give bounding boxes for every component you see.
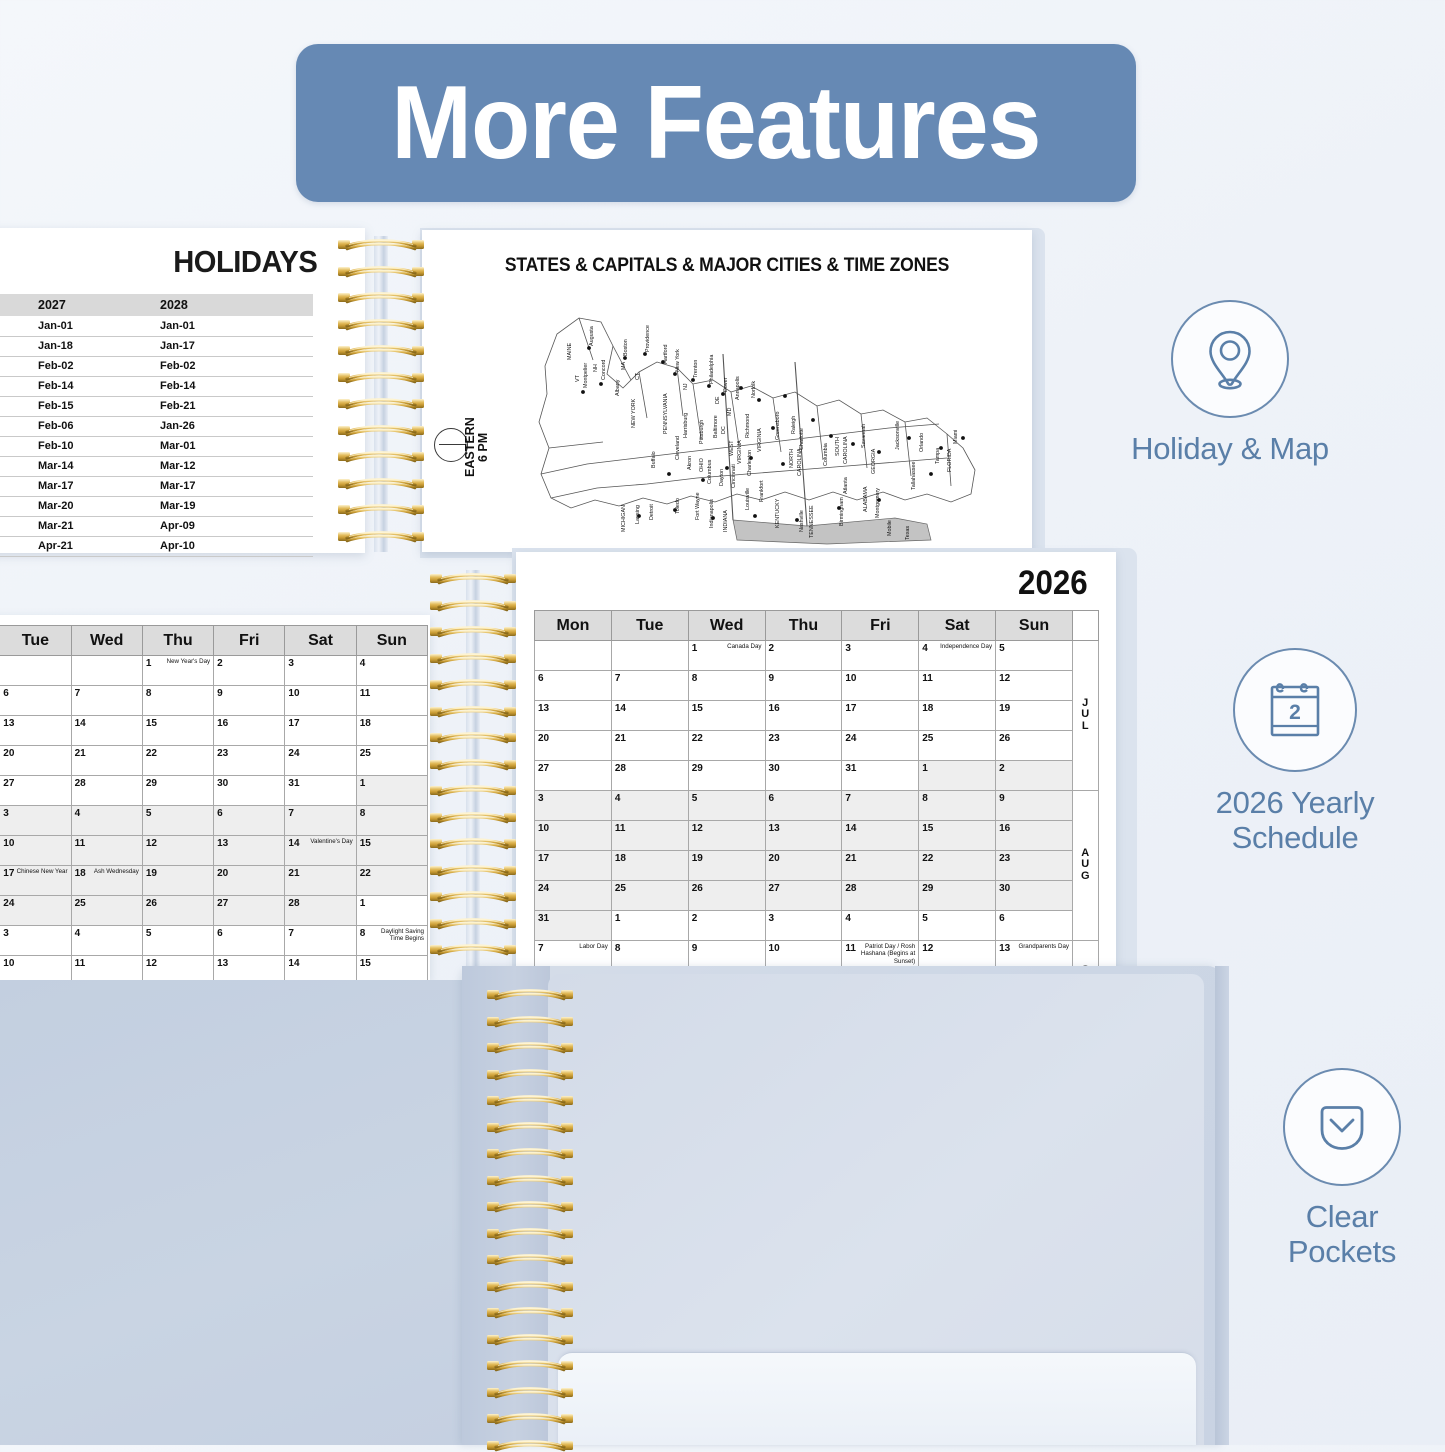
calendar-day-cell[interactable]: 10: [842, 671, 919, 701]
svg-text:Trenton: Trenton: [693, 360, 699, 378]
holidays-cell: Apr-10: [146, 536, 313, 556]
calendar-day-number: 25: [75, 898, 86, 909]
calendar-day-cell[interactable]: 28: [71, 776, 142, 806]
calendar-day-number: 17: [845, 703, 856, 714]
calendar-day-number: 25: [615, 883, 626, 894]
calendar-day-number: 19: [999, 703, 1010, 714]
calendar-day-cell[interactable]: 4Independence Day: [919, 641, 996, 671]
calendar-week-row: 6789101112: [535, 671, 1099, 701]
calendar-day-cell[interactable]: 18: [611, 851, 688, 881]
calendar-day-cell[interactable]: 17Chinese New Year: [0, 866, 71, 896]
calendar-day-cell[interactable]: 29: [142, 776, 213, 806]
svg-text:MICHIGAN: MICHIGAN: [621, 505, 627, 532]
svg-text:KENTUCKY: KENTUCKY: [775, 498, 781, 528]
calendar-day-number: 21: [615, 733, 626, 744]
banner-title: More Features: [391, 71, 1040, 175]
holidays-header-row: 2026 2027 2028: [0, 294, 313, 316]
calendar-day-number: 27: [217, 898, 228, 909]
svg-text:GEORGIA: GEORGIA: [871, 448, 877, 474]
calendar-day-cell[interactable]: 31: [535, 911, 612, 941]
holidays-cell: Mar-17: [146, 476, 313, 496]
calendar-week-row: 2324252627281: [0, 896, 428, 926]
holidays-cell: Feb-21: [146, 396, 313, 416]
calendar-day-cell[interactable]: 27: [535, 761, 612, 791]
calendar-day-number: 18: [615, 853, 626, 864]
calendar-day-number: 1: [615, 913, 621, 924]
calendar-day-cell[interactable]: [0, 656, 71, 686]
calendar-day-number: 22: [692, 733, 703, 744]
calendar-day-cell[interactable]: 1: [611, 911, 688, 941]
calendar-day-cell[interactable]: 9: [996, 791, 1073, 821]
calendar-day-number: 15: [146, 718, 157, 729]
holidays-cell: Mar-12: [146, 456, 313, 476]
calendar-day-cell[interactable]: 27: [0, 776, 71, 806]
binding-coil: [487, 1200, 573, 1213]
calendar-day-cell[interactable]: 20: [0, 746, 71, 776]
svg-text:Cleveland: Cleveland: [675, 436, 681, 460]
binding-coil: [487, 1227, 573, 1240]
calendar-icon: 2: [1256, 671, 1334, 749]
calendar-week-row: 1617Chinese New Year18Ash Wednesday19202…: [0, 866, 428, 896]
svg-text:WEST: WEST: [729, 440, 735, 456]
calendar-week-row: 3456789AUG: [535, 791, 1099, 821]
calendar-day-cell[interactable]: 14: [842, 821, 919, 851]
binding-coil: [487, 1412, 573, 1425]
svg-text:TENNESSEE: TENNESSEE: [809, 505, 815, 538]
svg-text:Tallahassee: Tallahassee: [911, 462, 917, 490]
calendar-day-cell[interactable]: 4: [356, 656, 427, 686]
binding-coil: [487, 1359, 573, 1372]
calendar-weekday-header: Tue: [611, 611, 688, 641]
calendar-weekday-header: Thu: [142, 626, 213, 656]
calendar-day-cell[interactable]: 21: [842, 851, 919, 881]
calendar-day-cell[interactable]: 17: [535, 851, 612, 881]
calendar-day-cell[interactable]: 15: [688, 701, 765, 731]
calendar-day-cell[interactable]: 8Daylight Saving Time Begins: [356, 926, 427, 956]
calendar-day-cell[interactable]: 3: [842, 641, 919, 671]
calendar-day-cell[interactable]: 8: [919, 791, 996, 821]
calendar-day-number: 23: [217, 748, 228, 759]
calendar-day-cell[interactable]: 13: [535, 701, 612, 731]
binding-coil: [430, 811, 516, 824]
feature-3-label-line-2: Pockets: [1288, 1235, 1396, 1270]
calendar-day-cell[interactable]: 11: [611, 821, 688, 851]
calendar-day-cell[interactable]: 25: [611, 881, 688, 911]
calendar-day-cell[interactable]: 30: [996, 881, 1073, 911]
calendar-week-row: 2345678: [0, 806, 428, 836]
calendar-day-number: 31: [288, 778, 299, 789]
calendar-holiday-note: Canada Day: [727, 643, 761, 650]
calendar-day-number: 14: [288, 958, 299, 969]
calendar-day-cell[interactable]: 22: [142, 746, 213, 776]
calendar-day-cell[interactable]: 15: [142, 716, 213, 746]
calendar-day-cell[interactable]: 3: [535, 791, 612, 821]
calendar-day-cell[interactable]: 2: [688, 911, 765, 941]
calendar-day-cell[interactable]: 30: [765, 761, 842, 791]
calendar-day-cell[interactable]: 1: [919, 761, 996, 791]
calendar-day-cell[interactable]: 11: [356, 686, 427, 716]
calendar-day-number: 2: [217, 658, 223, 669]
calendar-day-number: 30: [769, 763, 780, 774]
calendar-weekday-header: Tue: [0, 626, 71, 656]
calendar-day-cell[interactable]: 28: [285, 896, 356, 926]
holidays-table: 2026 2027 2028 Jan-01Jan-01Jan-01Jan-19J…: [0, 294, 313, 557]
holidays-cell: Mar-20: [0, 496, 24, 516]
calendar-day-number: 13: [217, 958, 228, 969]
calendar-day-number: 30: [999, 883, 1010, 894]
calendar-weekday-header: Thu: [765, 611, 842, 641]
calendar-day-cell[interactable]: 17: [842, 701, 919, 731]
calendar-day-cell[interactable]: 3: [765, 911, 842, 941]
calendar-week-row: 19202122232425: [0, 746, 428, 776]
calendar-holiday-note: Valentine's Day: [310, 838, 352, 845]
calendar-day-cell[interactable]: 14Valentine's Day: [285, 836, 356, 866]
svg-text:Toledo: Toledo: [675, 498, 681, 514]
svg-text:MA: MA: [621, 362, 627, 370]
holidays-row: Feb-14Feb-14Feb-14: [0, 376, 313, 396]
svg-text:DC: DC: [721, 426, 727, 434]
calendar-week-row: 91011121314Valentine's Day15: [0, 836, 428, 866]
svg-text:Greensboro: Greensboro: [775, 412, 781, 440]
calendar-day-cell[interactable]: 29: [919, 881, 996, 911]
calendar-day-number: 19: [692, 853, 703, 864]
calendar-day-cell[interactable]: 5: [142, 926, 213, 956]
svg-text:Raleigh: Raleigh: [791, 416, 797, 434]
holidays-cell: Feb-02: [146, 356, 313, 376]
calendar-day-number: 5: [146, 928, 152, 939]
calendar-day-cell[interactable]: 22: [919, 851, 996, 881]
holidays-cell: Jan-17: [146, 336, 313, 356]
calendar-day-cell[interactable]: 7: [285, 806, 356, 836]
calendar-day-cell[interactable]: 21: [611, 731, 688, 761]
calendar-day-cell[interactable]: 8: [688, 671, 765, 701]
calendar-day-cell[interactable]: 29: [688, 761, 765, 791]
calendar-right-body: 1Canada Day234Independence Day5JUL678910…: [535, 641, 1099, 981]
calendar-day-number: 4: [75, 928, 81, 939]
binding-coil: [430, 678, 516, 691]
calendar-day-cell[interactable]: 5: [142, 806, 213, 836]
calendar-day-cell[interactable]: 22: [688, 731, 765, 761]
svg-text:Baltimore: Baltimore: [713, 415, 719, 438]
calendar-day-number: 23: [999, 853, 1010, 864]
svg-text:ALABAMA: ALABAMA: [863, 486, 869, 512]
calendar-left-weekday-row: MonTueWedThuFriSatSun: [0, 626, 428, 656]
holidays-row: Feb-18Feb-10Mar-01: [0, 436, 313, 456]
calendar-holiday-note: Daylight Saving Time Begins: [372, 928, 424, 943]
calendar-day-cell[interactable]: 11: [919, 671, 996, 701]
calendar-day-cell[interactable]: 1: [356, 896, 427, 926]
calendar-holiday-note: New Year's Day: [167, 658, 210, 665]
feature-holiday-map: Holiday & Map: [1110, 300, 1350, 467]
calendar-day-cell[interactable]: 1New Year's Day: [142, 656, 213, 686]
calendar-day-cell[interactable]: 28: [611, 761, 688, 791]
calendar-day-cell[interactable]: 6: [214, 806, 285, 836]
holidays-cell: Feb-16: [0, 396, 24, 416]
holidays-col-2028: 2028: [146, 294, 313, 316]
calendar-day-number: 11: [922, 673, 933, 684]
calendar-day-number: 28: [615, 763, 626, 774]
us-map-svg: MAINE Augusta Boston Providence Hartford…: [527, 288, 997, 550]
calendar-day-cell[interactable]: 24: [0, 896, 71, 926]
calendar-day-cell[interactable]: 3: [0, 926, 71, 956]
calendar-day-cell[interactable]: 16: [996, 821, 1073, 851]
calendar-day-cell[interactable]: 9: [765, 671, 842, 701]
calendar-day-cell[interactable]: 6: [0, 686, 71, 716]
calendar-day-cell[interactable]: 20: [214, 866, 285, 896]
calendar-day-cell[interactable]: 18Ash Wednesday: [71, 866, 142, 896]
calendar-day-number: 15: [360, 958, 371, 969]
calendar-day-cell[interactable]: 20: [765, 851, 842, 881]
calendar-day-cell[interactable]: 2: [765, 641, 842, 671]
holidays-cell: Feb-14: [146, 376, 313, 396]
calendar-right-table: MonTueWedThuFriSatSun 1Canada Day234Inde…: [534, 610, 1099, 980]
svg-text:CT: CT: [635, 372, 641, 380]
binding-coil: [338, 344, 424, 357]
binding-coil: [338, 371, 424, 384]
calendar-day-cell[interactable]: 26: [996, 731, 1073, 761]
calendar-day-cell[interactable]: 6: [996, 911, 1073, 941]
calendar-day-number: 2: [692, 913, 698, 924]
calendar-week-row: 13141516171819: [535, 701, 1099, 731]
calendar-week-row: 1Canada Day234Independence Day5JUL: [535, 641, 1099, 671]
calendar-day-number: 20: [3, 748, 14, 759]
calendar-day-cell[interactable]: 4: [842, 911, 919, 941]
svg-text:New York: New York: [675, 349, 681, 372]
calendar-day-cell[interactable]: 21: [71, 746, 142, 776]
calendar-day-cell[interactable]: 27: [214, 896, 285, 926]
calendar-day-cell[interactable]: 10: [285, 686, 356, 716]
calendar-day-number: 10: [3, 958, 14, 969]
holidays-cell: Feb-14: [0, 376, 24, 396]
calendar-day-cell[interactable]: 5: [996, 641, 1073, 671]
calendar-day-cell[interactable]: [535, 641, 612, 671]
calendar-day-cell[interactable]: 23: [996, 851, 1073, 881]
calendar-day-cell[interactable]: 4: [71, 926, 142, 956]
holidays-cell: Apr-21: [24, 536, 146, 556]
binding-coil: [430, 599, 516, 612]
calendar-day-cell[interactable]: 30: [214, 776, 285, 806]
map-page: STATES & CAPITALS & MAJOR CITIES & TIME …: [422, 230, 1032, 552]
calendar-day-number: 2: [999, 763, 1005, 774]
svg-text:INDIANA: INDIANA: [723, 510, 729, 532]
calendar-day-cell[interactable]: [71, 656, 142, 686]
svg-text:Birmingham: Birmingham: [839, 497, 845, 526]
calendar-day-cell[interactable]: 7: [71, 686, 142, 716]
calendar-day-cell[interactable]: 13: [765, 821, 842, 851]
calendar-day-cell[interactable]: 26: [688, 881, 765, 911]
holidays-cell: Jan-01: [0, 316, 24, 336]
calendar-day-cell[interactable]: 19: [996, 701, 1073, 731]
map-title: STATES & CAPITALS & MAJOR CITIES & TIME …: [453, 254, 1002, 277]
binding-coil: [338, 450, 424, 463]
calendar-day-number: 17: [538, 853, 549, 864]
calendar-week-row: 272829303112: [535, 761, 1099, 791]
calendar-day-cell[interactable]: 8: [356, 806, 427, 836]
calendar-day-cell[interactable]: 24: [285, 746, 356, 776]
binding-coil: [430, 943, 516, 956]
calendar-day-cell[interactable]: 13: [0, 716, 71, 746]
svg-text:Dayton: Dayton: [719, 469, 725, 486]
calendar-weekday-header: Fri: [214, 626, 285, 656]
calendar-day-cell[interactable]: [611, 641, 688, 671]
svg-text:Boston: Boston: [623, 339, 629, 356]
calendar-day-cell[interactable]: 31: [285, 776, 356, 806]
calendar-day-cell[interactable]: 10: [0, 836, 71, 866]
calendar-day-cell[interactable]: 25: [71, 896, 142, 926]
svg-text:OHIO: OHIO: [699, 458, 705, 472]
binding-coil: [430, 705, 516, 718]
holidays-row: Mar-20Mar-20Mar-19: [0, 496, 313, 516]
calendar-day-cell[interactable]: 16: [214, 716, 285, 746]
calendar-day-number: 10: [769, 943, 780, 954]
calendar-day-cell[interactable]: 23: [214, 746, 285, 776]
calendar-week-row: 1New Year's Day234: [0, 656, 428, 686]
calendar-weekday-header: Sun: [996, 611, 1073, 641]
calendar-day-number: 10: [538, 823, 549, 834]
calendar-day-cell[interactable]: 6: [214, 926, 285, 956]
calendar-day-cell[interactable]: 15: [919, 821, 996, 851]
calendar-day-cell[interactable]: 5: [688, 791, 765, 821]
calendar-day-cell[interactable]: 12: [142, 836, 213, 866]
calendar-day-cell[interactable]: 15: [356, 836, 427, 866]
calendar-day-cell[interactable]: 12: [688, 821, 765, 851]
calendar-day-number: 27: [769, 883, 780, 894]
binding-coil: [487, 1174, 573, 1187]
calendar-day-cell[interactable]: 19: [688, 851, 765, 881]
calendar-day-cell[interactable]: 7: [842, 791, 919, 821]
feature-holiday-map-label: Holiday & Map: [1131, 432, 1329, 467]
calendar-day-cell[interactable]: 11: [71, 836, 142, 866]
calendar-day-cell[interactable]: 1Canada Day: [688, 641, 765, 671]
calendar-day-cell[interactable]: 6: [535, 671, 612, 701]
calendar-day-cell[interactable]: 31: [842, 761, 919, 791]
calendar-day-cell[interactable]: 1: [356, 776, 427, 806]
calendar-day-cell[interactable]: 18: [919, 701, 996, 731]
calendar-day-cell[interactable]: 21: [285, 866, 356, 896]
calendar-day-number: 1: [692, 643, 698, 654]
svg-text:Buffalo: Buffalo: [651, 451, 657, 468]
calendar-day-number: 7: [615, 673, 621, 684]
binding-coil: [487, 1439, 573, 1452]
calendar-day-cell[interactable]: 28: [842, 881, 919, 911]
calendar-day-number: 17: [3, 868, 14, 879]
svg-text:Atlanta: Atlanta: [843, 477, 849, 494]
calendar-day-cell[interactable]: 26: [142, 896, 213, 926]
calendar-day-cell[interactable]: 19: [142, 866, 213, 896]
timezone-line-2: 6 PM: [476, 432, 490, 461]
calendar-day-number: 24: [845, 733, 856, 744]
calendar-day-cell[interactable]: 24: [842, 731, 919, 761]
calendar-day-cell[interactable]: 22: [356, 866, 427, 896]
calendar-day-cell[interactable]: 3: [285, 656, 356, 686]
holidays-row: Feb-16Feb-15Feb-21: [0, 396, 313, 416]
calendar-day-cell[interactable]: 13: [214, 836, 285, 866]
calendar-day-number: 8: [922, 793, 928, 804]
calendar-day-cell[interactable]: 2: [996, 761, 1073, 791]
calendar-day-cell[interactable]: 14: [71, 716, 142, 746]
binding-coil: [430, 917, 516, 930]
calendar-day-number: 10: [3, 838, 14, 849]
map-pin-icon: [1193, 322, 1267, 396]
calendar-day-number: 6: [217, 928, 223, 939]
calendar-day-cell[interactable]: 6: [765, 791, 842, 821]
holidays-cell: Feb-02: [24, 356, 146, 376]
calendar-day-cell[interactable]: 24: [535, 881, 612, 911]
svg-text:Norfolk: Norfolk: [751, 381, 757, 398]
calendar-day-number: 5: [692, 793, 698, 804]
calendar-holiday-note: Chinese New Year: [17, 868, 68, 875]
calendar-day-cell[interactable]: 25: [919, 731, 996, 761]
calendar-day-cell[interactable]: 18: [356, 716, 427, 746]
calendar-day-number: 9: [769, 673, 775, 684]
calendar-day-cell[interactable]: 5: [919, 911, 996, 941]
calendar-day-number: 7: [288, 808, 294, 819]
binding-coil: [430, 890, 516, 903]
calendar-day-cell[interactable]: 16: [765, 701, 842, 731]
calendar-day-cell[interactable]: 27: [765, 881, 842, 911]
spiral-binding-bottom: [487, 986, 573, 1445]
calendar-day-cell[interactable]: 7: [285, 926, 356, 956]
calendar-day-cell[interactable]: 23: [765, 731, 842, 761]
holidays-cell: Mar-14: [24, 456, 146, 476]
calendar-month-label-cell: AUG: [1073, 791, 1099, 941]
calendar-weekday-header: Sat: [919, 611, 996, 641]
binding-coil: [487, 1147, 573, 1160]
calendar-day-cell[interactable]: 20: [535, 731, 612, 761]
calendar-day-cell[interactable]: 3: [0, 806, 71, 836]
calendar-day-cell[interactable]: 14: [611, 701, 688, 731]
calendar-day-cell[interactable]: 12: [996, 671, 1073, 701]
holidays-page: HOLIDAYS 2026 2027 2028 Jan-01Jan-01Jan-…: [0, 228, 365, 553]
holidays-cell: Jan-01: [24, 316, 146, 336]
calendar-holiday-note: Ash Wednesday: [94, 868, 139, 875]
calendar-day-number: 15: [692, 703, 703, 714]
calendar-day-cell[interactable]: 7: [611, 671, 688, 701]
calendar-day-number: 12: [146, 838, 157, 849]
calendar-week-row: 31123456: [535, 911, 1099, 941]
holidays-cell: Feb-06: [24, 416, 146, 436]
calendar-day-number: 13: [538, 703, 549, 714]
calendar-day-cell[interactable]: 4: [71, 806, 142, 836]
calendar-day-number: 8: [615, 943, 621, 954]
calendar-day-number: 6: [538, 673, 544, 684]
calendar-day-number: 20: [217, 868, 228, 879]
calendar-day-number: 16: [769, 703, 780, 714]
binding-coil: [338, 291, 424, 304]
svg-text:NH: NH: [593, 364, 599, 372]
calendar-day-cell[interactable]: 10: [535, 821, 612, 851]
calendar-day-number: 16: [999, 823, 1010, 834]
binding-coil: [430, 758, 516, 771]
binding-coil: [430, 652, 516, 665]
binding-coil: [487, 988, 573, 1001]
svg-text:Harrisburg: Harrisburg: [683, 413, 689, 438]
calendar-day-cell[interactable]: 17: [285, 716, 356, 746]
calendar-day-cell[interactable]: 9: [214, 686, 285, 716]
calendar-day-number: 27: [538, 763, 549, 774]
calendar-day-cell[interactable]: 4: [611, 791, 688, 821]
calendar-day-number: 11: [845, 943, 856, 954]
calendar-day-cell[interactable]: 2: [214, 656, 285, 686]
calendar-day-number: 26: [999, 733, 1010, 744]
calendar-day-cell[interactable]: 8: [142, 686, 213, 716]
calendar-day-number: 6: [769, 793, 775, 804]
background-panel-left: [0, 980, 470, 1445]
feature-yearly-schedule-label: 2026 Yearly Schedule: [1216, 786, 1375, 855]
binding-coil: [338, 238, 424, 251]
top-page-spread: HOLIDAYS 2026 2027 2028 Jan-01Jan-01Jan-…: [0, 228, 1070, 558]
calendar-day-cell[interactable]: 25: [356, 746, 427, 776]
